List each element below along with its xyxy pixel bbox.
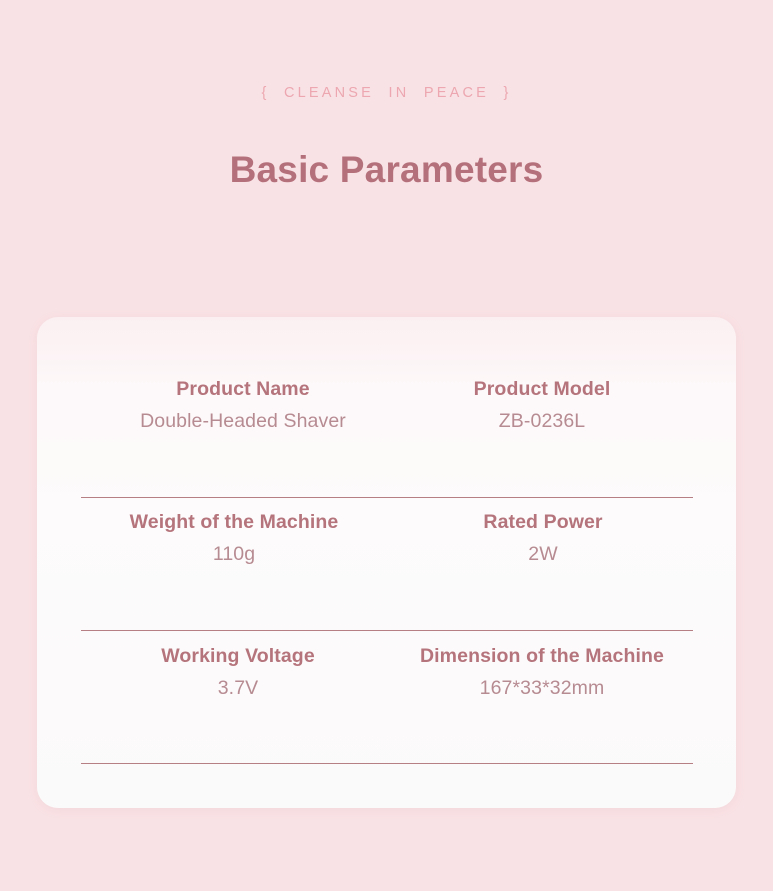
table-row: Weight of the Machine 110g Rated Power 2… [81,498,693,631]
spec-table: Product Name Double-Headed Shaver Produc… [81,365,693,764]
product-spec-page: { CLEANSE IN PEACE } Basic Parameters Pr… [0,0,773,891]
table-row: Working Voltage 3.7V Dimension of the Ma… [81,631,693,764]
spec-cell-dimension: Dimension of the Machine 167*33*32mm [387,646,693,699]
brand-tagline: { CLEANSE IN PEACE } [0,86,773,101]
spec-cell-rated-power: Rated Power 2W [387,512,693,565]
spec-cell-product-name: Product Name Double-Headed Shaver [81,379,387,432]
spec-cell-product-model: Product Model ZB-0236L [387,379,693,432]
row-divider [81,763,693,764]
spec-value: 3.7V [89,678,387,698]
spec-label: Product Name [99,379,387,399]
spec-label: Dimension of the Machine [391,646,693,666]
spec-value: 2W [393,544,693,564]
spec-label: Product Model [391,379,693,399]
page-header: { CLEANSE IN PEACE } Basic Parameters [0,0,773,188]
spec-value: 110g [81,544,387,564]
page-title: Basic Parameters [0,151,773,188]
spec-value: Double-Headed Shaver [99,411,387,431]
spec-label: Weight of the Machine [81,512,387,532]
spec-value: 167*33*32mm [391,678,693,698]
spec-label: Working Voltage [89,646,387,666]
spec-cell-weight: Weight of the Machine 110g [81,512,387,565]
table-row: Product Name Double-Headed Shaver Produc… [81,365,693,498]
spec-value: ZB-0236L [391,411,693,431]
spec-cell-working-voltage: Working Voltage 3.7V [81,646,387,699]
spec-card: Product Name Double-Headed Shaver Produc… [37,317,736,808]
spec-label: Rated Power [393,512,693,532]
